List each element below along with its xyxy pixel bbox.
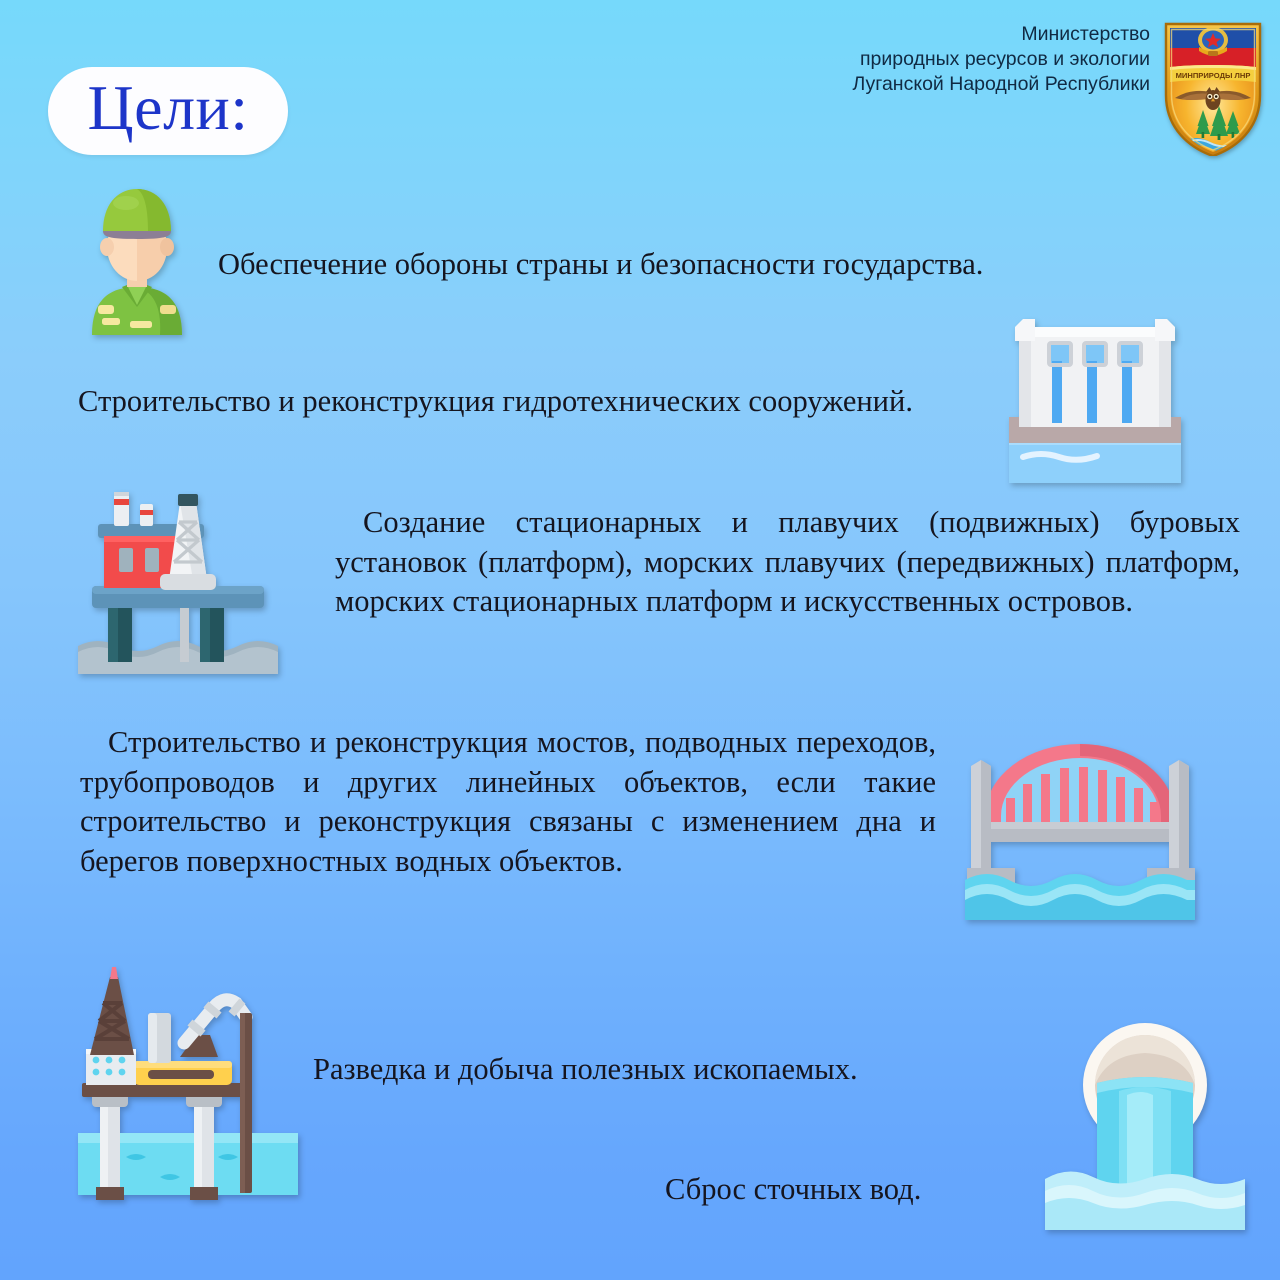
goal-bridges-pipelines-body: Строительство и реконструкция мостов, по… [80,725,936,878]
shield-ribbon-text: МИНПРИРОДЫ ЛНР [1176,71,1251,80]
goal-hydro-structures-text: Строительство и реконструкция гидротехни… [78,382,1003,422]
ministry-name: Министерство природных ресурсов и эколог… [853,22,1150,97]
ministry-line-3: Луганской Народной Республики [853,72,1150,97]
goal-drilling-platforms-body: Создание стационарных и плавучих (подвиж… [335,505,1240,618]
ministry-line-1: Министерство [853,22,1150,47]
goal-drilling-platforms-text: Создание стационарных и плавучих (подвиж… [335,503,1240,622]
ministry-line-2: природных ресурсов и экологии [853,47,1150,72]
wastewater-pipe-icon [1045,1015,1245,1230]
oil-platform-icon [70,478,305,678]
goal-wastewater-discharge-text: Сброс сточных вод. [665,1170,1065,1210]
drilling-rig-icon [68,965,313,1200]
dam-icon [1005,305,1185,490]
goal-defense-text: Обеспечение обороны страны и безопасност… [218,245,1258,285]
bridge-icon [965,728,1195,928]
ministry-shield-logo: МИНПРИРОДЫ ЛНР [1164,22,1262,156]
page-title: Цели: [87,76,248,146]
page-title-pill: Цели: [48,67,288,155]
goal-mineral-extraction-text: Разведка и добыча полезных ископаемых. [313,1050,1053,1090]
soldier-icon [72,175,202,335]
ministry-header: Министерство природных ресурсов и эколог… [853,22,1262,156]
goal-bridges-pipelines-text: Строительство и реконструкция мостов, по… [80,723,936,882]
